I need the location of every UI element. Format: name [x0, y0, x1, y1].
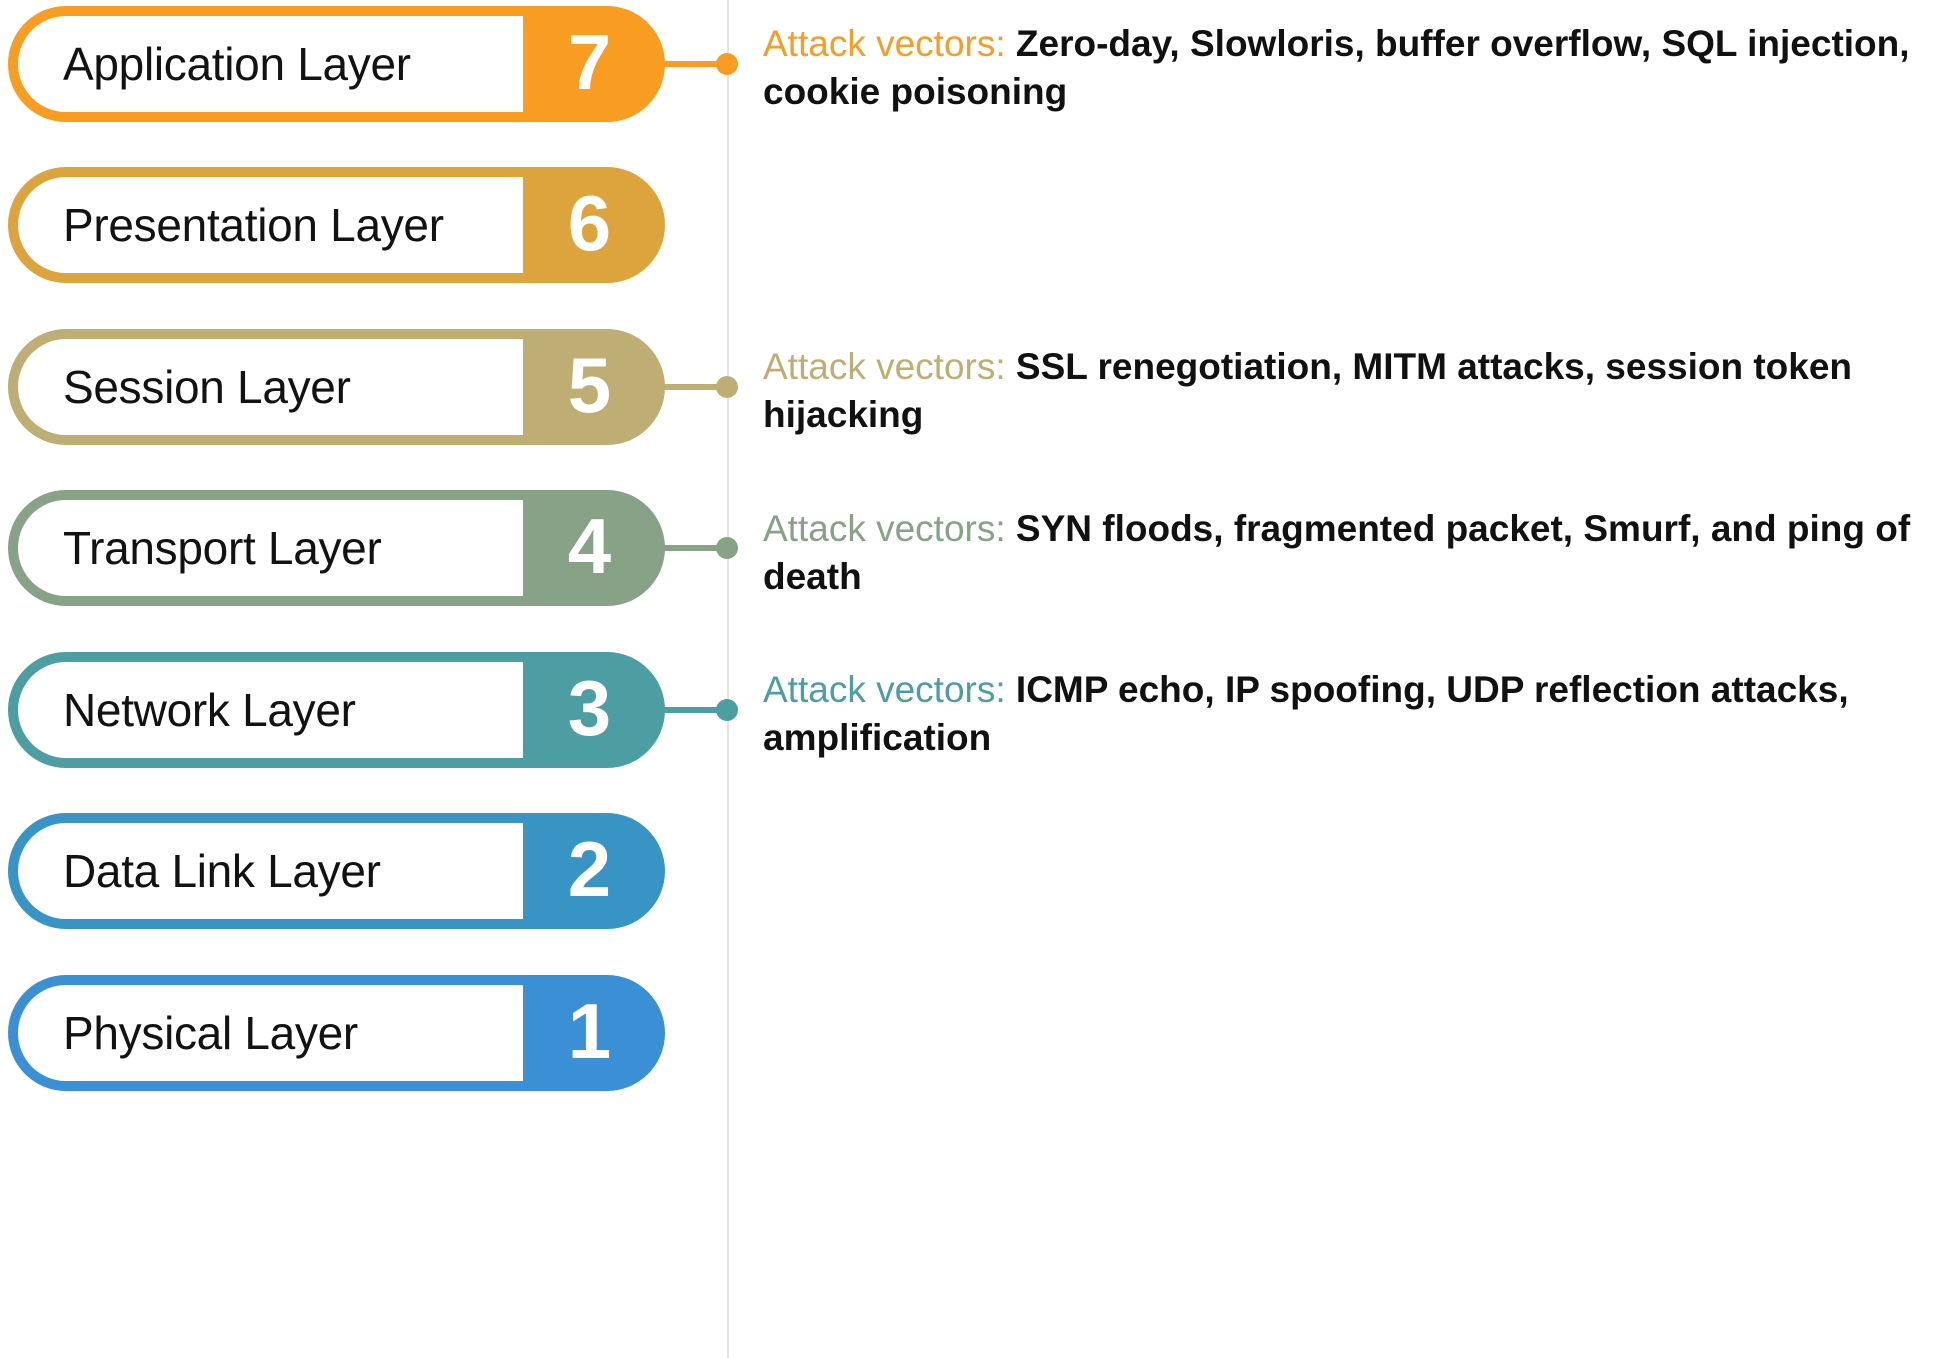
layer-name-panel: Network Layer	[18, 662, 523, 758]
connector-dot	[716, 537, 738, 559]
attack-vector-note: Attack vectors: ICMP echo, IP spoofing, …	[763, 666, 1939, 762]
layer-name-panel: Transport Layer	[18, 500, 523, 596]
layer-row[interactable]: Presentation Layer6	[8, 167, 665, 283]
connector-dot	[716, 376, 738, 398]
layer-name-panel: Physical Layer	[18, 985, 523, 1081]
layer-name-label: Data Link Layer	[63, 844, 381, 898]
layer-capsule[interactable]: Data Link Layer2	[8, 813, 665, 929]
layer-number-badge: 5	[513, 329, 665, 445]
layer-row[interactable]: Data Link Layer2	[8, 813, 665, 929]
layer-capsule[interactable]: Transport Layer4	[8, 490, 665, 606]
layer-name-label: Application Layer	[63, 37, 411, 91]
layer-capsule[interactable]: Physical Layer1	[8, 975, 665, 1091]
connector-dot	[716, 53, 738, 75]
layer-number-badge: 2	[513, 813, 665, 929]
attack-vectors-label: Attack vectors:	[763, 23, 1006, 64]
layer-number-badge: 4	[513, 490, 665, 606]
layer-name-label: Network Layer	[63, 683, 356, 737]
layer-row[interactable]: Network Layer3	[8, 652, 665, 768]
vertical-divider	[727, 0, 729, 1358]
layer-name-label: Transport Layer	[63, 521, 382, 575]
layer-name-panel: Data Link Layer	[18, 823, 523, 919]
attack-vector-note: Attack vectors: Zero-day, Slowloris, buf…	[763, 20, 1939, 116]
layer-row[interactable]: Transport Layer4	[8, 490, 665, 606]
attack-vectors-label: Attack vectors:	[763, 346, 1006, 387]
layer-name-label: Session Layer	[63, 360, 351, 414]
attack-vectors-label: Attack vectors:	[763, 508, 1006, 549]
connector-dot	[716, 699, 738, 721]
layer-number-badge: 1	[513, 975, 665, 1091]
layer-name-label: Physical Layer	[63, 1006, 358, 1060]
layer-capsule[interactable]: Application Layer7	[8, 6, 665, 122]
layer-row[interactable]: Application Layer7	[8, 6, 665, 122]
layer-number-badge: 6	[513, 167, 665, 283]
layer-row[interactable]: Physical Layer1	[8, 975, 665, 1091]
attack-vector-note: Attack vectors: SSL renegotiation, MITM …	[763, 343, 1939, 439]
layer-name-panel: Presentation Layer	[18, 177, 523, 273]
attack-vector-note: Attack vectors: SYN floods, fragmented p…	[763, 505, 1939, 601]
layer-number-badge: 7	[513, 6, 665, 122]
layer-name-label: Presentation Layer	[63, 198, 444, 252]
layer-name-panel: Application Layer	[18, 16, 523, 112]
layer-name-panel: Session Layer	[18, 339, 523, 435]
layer-stack: Application Layer7Presentation Layer6Ses…	[0, 0, 740, 1358]
layer-row[interactable]: Session Layer5	[8, 329, 665, 445]
attack-vectors-label: Attack vectors:	[763, 669, 1006, 710]
layer-number-badge: 3	[513, 652, 665, 768]
layer-capsule[interactable]: Session Layer5	[8, 329, 665, 445]
osi-diagram: Application Layer7Presentation Layer6Ses…	[0, 0, 1939, 1358]
layer-capsule[interactable]: Network Layer3	[8, 652, 665, 768]
layer-capsule[interactable]: Presentation Layer6	[8, 167, 665, 283]
